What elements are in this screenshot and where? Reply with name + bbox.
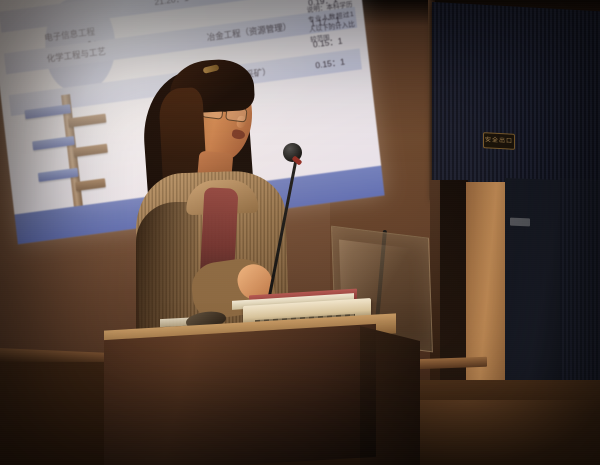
cell-ratio (130, 17, 199, 26)
door-plate (510, 218, 530, 227)
signpost-arm (68, 114, 107, 128)
signpost-arm (73, 144, 108, 157)
slide-side-note: 说明：本科学历专业人数超过1人以下的计入比较范围 (306, 0, 356, 46)
lectern-shadow (104, 324, 376, 465)
cell-ratio (132, 38, 201, 47)
cell-last: 0.15：1 (301, 53, 360, 73)
cell-name (199, 4, 294, 17)
acoustic-wall-panel (432, 2, 600, 207)
exit-sign: 安全出口 (483, 132, 515, 150)
signpost-illustration (29, 90, 116, 215)
exit-sign-label: 安全出口 (485, 137, 513, 145)
auditorium-photo: 安全出口 04：1 专业名称 前五名 机械设计制造及自动化 25.27：1 国际… (0, 0, 600, 465)
